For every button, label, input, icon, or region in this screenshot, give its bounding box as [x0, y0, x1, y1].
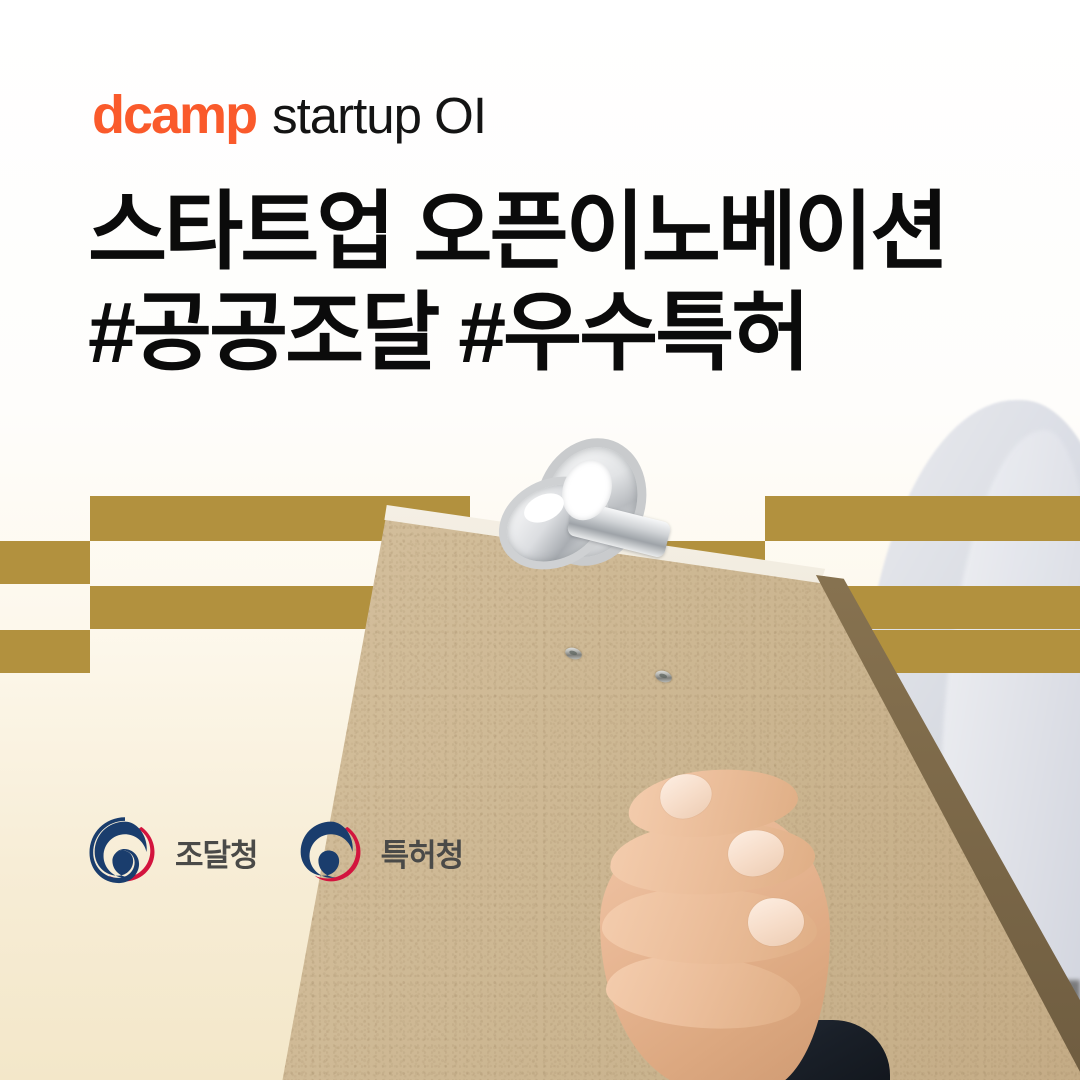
metal-binder-clip-icon: [497, 437, 662, 562]
taegeuk-emblem-icon: [294, 815, 368, 889]
agency-name-kipo: 특허청: [381, 830, 464, 875]
brand-logo-lockup: dcamp startup OI: [92, 88, 486, 142]
startup-oi-wordmark: startup OI: [272, 90, 486, 141]
hand-photo: [600, 770, 960, 1080]
page-title: 스타트업 오픈이노베이션 #공공조달 #우수특허: [88, 182, 988, 383]
promo-poster: dcamp startup OI 스타트업 오픈이노베이션 #공공조달 #우수특…: [0, 0, 1080, 1080]
dcamp-wordmark: dcamp: [92, 88, 256, 142]
agency-name-pps: 조달청: [175, 830, 258, 875]
taegeuk-emblem-icon: [88, 815, 162, 889]
agency-logo-kipo: 특허청: [294, 815, 464, 889]
agency-logo-row: 조달청 특허청: [88, 815, 463, 889]
agency-logo-pps: 조달청: [88, 815, 258, 889]
